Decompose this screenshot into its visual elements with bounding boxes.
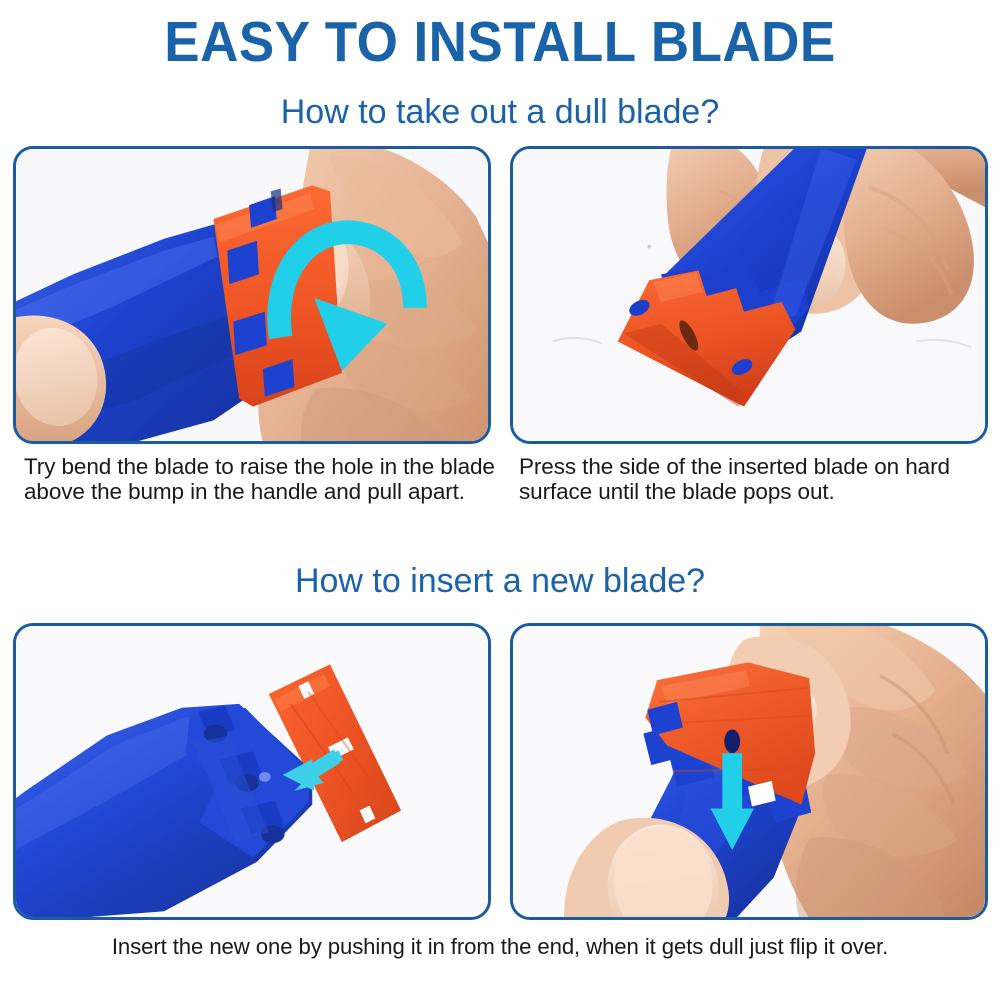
page-title: EASY TO INSTALL BLADE xyxy=(35,11,965,73)
caption-insert-steps: Insert the new one by pushing it in from… xyxy=(8,934,993,959)
caption-remove-step-1: Try bend the blade to raise the hole in … xyxy=(24,454,504,504)
photo-panel-insert-step-1 xyxy=(13,623,491,920)
photo-insert-step-2 xyxy=(513,626,985,917)
section-heading-insert: How to insert a new blade? xyxy=(0,561,1000,601)
infographic-page: EASY TO INSTALL BLADE How to take out a … xyxy=(0,0,1000,1000)
photo-remove-step-1 xyxy=(16,149,488,441)
photo-remove-step-2 xyxy=(513,149,985,441)
photo-insert-step-1 xyxy=(16,626,488,917)
photo-panel-insert-step-2 xyxy=(510,623,988,920)
photo-panel-remove-step-2 xyxy=(510,146,988,444)
caption-remove-step-2: Press the side of the inserted blade on … xyxy=(519,454,999,504)
section-heading-remove: How to take out a dull blade? xyxy=(0,92,1000,132)
photo-panel-remove-step-1 xyxy=(13,146,491,444)
